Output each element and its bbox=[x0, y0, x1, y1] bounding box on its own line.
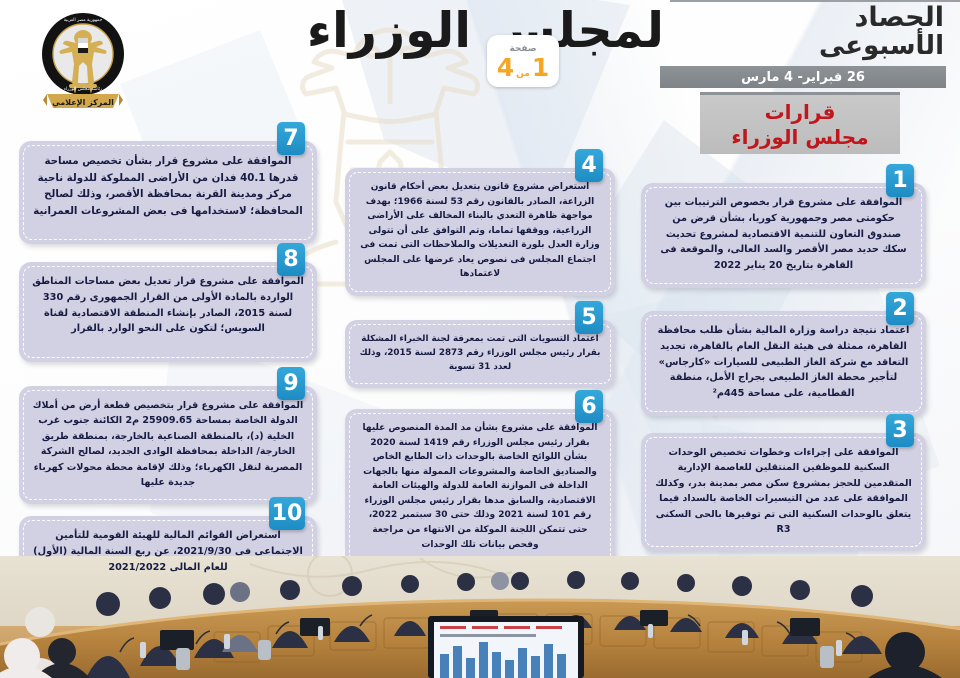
page-indicator-numbers: 1 من 4 bbox=[497, 55, 549, 80]
decision-card-text: استعراض مشروع قانون بتعديل بعض أحكام قان… bbox=[345, 168, 615, 293]
decision-number-badge: 9 bbox=[277, 367, 305, 400]
decision-card-text: الموافقة على مشروع قرار بشأن تخصيص مساحة… bbox=[19, 141, 317, 230]
decision-number-badge: 10 bbox=[269, 497, 305, 530]
decision-number-badge: 6 bbox=[575, 390, 603, 423]
page-indicator-badge: صفحة 1 من 4 bbox=[487, 35, 559, 87]
decision-card-text: الموافقة على مشروع قرار بخصوص الترتيبات … bbox=[641, 183, 926, 285]
decision-card-text: الموافقة على مشروع بشأن مد المدة المنصوص… bbox=[345, 409, 615, 563]
decision-number-badge: 5 bbox=[575, 301, 603, 334]
decision-card-text: الموافقة على مشروع قرار بتخصيص قطعة أرض … bbox=[19, 386, 317, 501]
section-heading-line1: قرارات bbox=[765, 100, 836, 124]
page-title: لمجلس الوزراء bbox=[307, 2, 664, 59]
decision-card-5: 5اعتماد التسويات التى تمت بمعرفة لجنة ال… bbox=[345, 320, 615, 388]
date-range-bar: 26 فبراير- 4 مارس bbox=[660, 66, 946, 88]
decision-card-2: 2اعتماد نتيجة دراسة وزارة المالية بشأن ط… bbox=[641, 311, 926, 416]
decision-card-6: 6الموافقة على مشروع بشأن مد المدة المنصو… bbox=[345, 409, 615, 567]
decision-number-badge: 8 bbox=[277, 243, 305, 276]
decision-number-badge: 3 bbox=[886, 414, 914, 447]
page-current: 1 bbox=[532, 55, 549, 80]
svg-text:المركز الإعلامي: المركز الإعلامي bbox=[52, 98, 114, 107]
svg-text:جمهورية مصر العربية: جمهورية مصر العربية bbox=[64, 18, 103, 23]
egypt-cabinet-seal-logo: جمهورية مصر العربية رئاسة مجلس الوزراء ا… bbox=[37, 8, 129, 118]
decision-card-text: الموافقة على مشروع قرار تعديل بعض مساحات… bbox=[19, 262, 317, 348]
svg-text:رئاسة مجلس الوزراء: رئاسة مجلس الوزراء bbox=[64, 87, 102, 92]
decision-card-9: 9الموافقة على مشروع قرار بتخصيص قطعة أرض… bbox=[19, 386, 317, 504]
decision-number-badge: 7 bbox=[277, 122, 305, 155]
header-title-line1: الحصاد bbox=[819, 4, 944, 33]
decision-card-text: الموافقة على إجراءات وخطوات تخصيص الوحدا… bbox=[641, 433, 926, 548]
page-total: 4 bbox=[497, 55, 514, 80]
decision-card-10: 10استعراض القوائم المالية للهيئة القومية… bbox=[19, 516, 317, 588]
decision-card-text: اعتماد نتيجة دراسة وزارة المالية بشأن طل… bbox=[641, 311, 926, 413]
decision-card-8: 8الموافقة على مشروع قرار تعديل بعض مساحا… bbox=[19, 262, 317, 362]
header-title-block: الحصاد الأسبوعى bbox=[819, 4, 944, 60]
section-heading-panel: قرارات مجلس الوزراء bbox=[700, 92, 900, 154]
decision-number-badge: 2 bbox=[886, 292, 914, 325]
header-title-line2: الأسبوعى bbox=[819, 33, 944, 61]
decision-card-7: 7الموافقة على مشروع قرار بشأن تخصيص مساح… bbox=[19, 141, 317, 244]
decision-card-4: 4استعراض مشروع قانون بتعديل بعض أحكام قا… bbox=[345, 168, 615, 296]
page-of-label: من bbox=[516, 69, 530, 79]
section-heading-line2: مجلس الوزراء bbox=[731, 125, 868, 149]
decision-number-badge: 4 bbox=[575, 149, 603, 182]
decision-card-3: 3الموافقة على إجراءات وخطوات تخصيص الوحد… bbox=[641, 433, 926, 551]
decision-number-badge: 1 bbox=[886, 164, 914, 197]
infographic-poster: جمهورية مصر العربية رئاسة مجلس الوزراء ا… bbox=[0, 0, 960, 678]
decision-card-1: 1الموافقة على مشروع قرار بخصوص الترتيبات… bbox=[641, 183, 926, 288]
